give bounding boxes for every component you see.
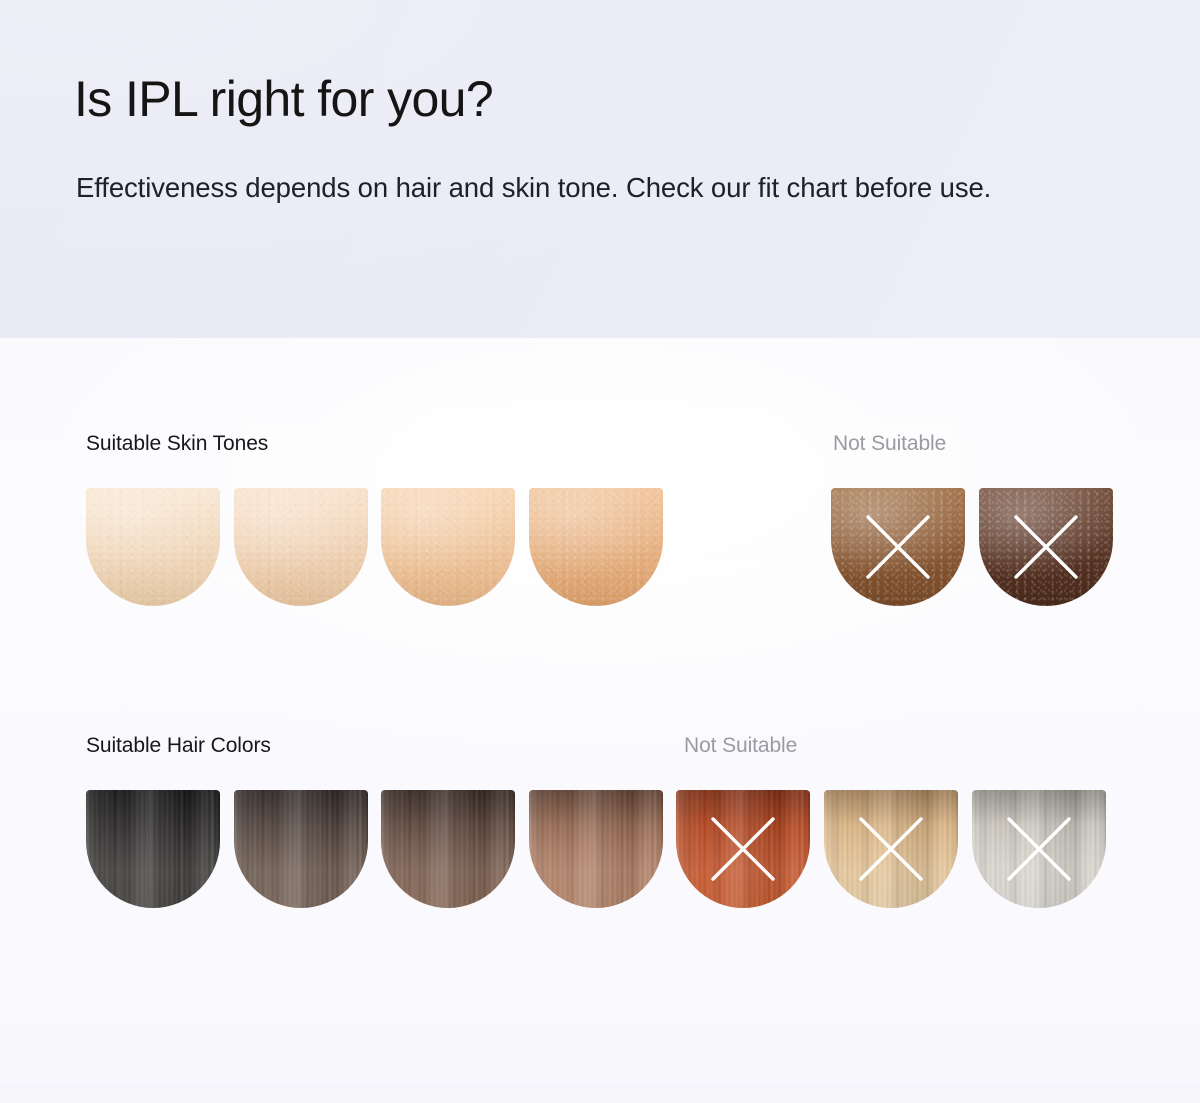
- hair-color-2[interactable]: [234, 790, 368, 908]
- skin-tone-5[interactable]: [831, 488, 965, 606]
- hair-color-4-sheen: [529, 790, 663, 908]
- skin-tone-4[interactable]: [529, 488, 663, 606]
- hair-swatch-row: [0, 790, 1200, 912]
- page-title: Is IPL right for you?: [74, 68, 493, 130]
- skin-tone-6[interactable]: [979, 488, 1113, 606]
- skin-tone-5-sheen: [831, 488, 965, 606]
- skin-tone-3[interactable]: [381, 488, 515, 606]
- hair-color-1[interactable]: [86, 790, 220, 908]
- skin-tone-4-sheen: [529, 488, 663, 606]
- hair-suitable-label: Suitable Hair Colors: [86, 732, 271, 759]
- header-band: Is IPL right for you? Effectiveness depe…: [0, 0, 1200, 338]
- hair-color-5[interactable]: [676, 790, 810, 908]
- hair-color-5-sheen: [676, 790, 810, 908]
- skin-tone-2[interactable]: [234, 488, 368, 606]
- hair-not-suitable-label: Not Suitable: [684, 732, 797, 759]
- hair-color-6-sheen: [824, 790, 958, 908]
- page-subtitle: Effectiveness depends on hair and skin t…: [76, 166, 1126, 209]
- skin-tone-1[interactable]: [86, 488, 220, 606]
- hair-color-7-sheen: [972, 790, 1106, 908]
- hair-color-4[interactable]: [529, 790, 663, 908]
- skin-tone-6-sheen: [979, 488, 1113, 606]
- hair-color-7[interactable]: [972, 790, 1106, 908]
- hair-color-1-sheen: [86, 790, 220, 908]
- skin-tone-section: Suitable Skin Tones Not Suitable: [0, 430, 1200, 620]
- hair-color-3[interactable]: [381, 790, 515, 908]
- skin-tone-1-sheen: [86, 488, 220, 606]
- hair-color-6[interactable]: [824, 790, 958, 908]
- skin-tone-2-sheen: [234, 488, 368, 606]
- footer-band: [0, 1083, 1200, 1103]
- skin-suitable-label: Suitable Skin Tones: [86, 430, 268, 457]
- skin-not-suitable-label: Not Suitable: [833, 430, 946, 457]
- hair-color-2-sheen: [234, 790, 368, 908]
- skin-swatch-row: [0, 488, 1200, 610]
- skin-tone-3-sheen: [381, 488, 515, 606]
- hair-color-section: Suitable Hair Colors Not Suitable: [0, 732, 1200, 922]
- hair-color-3-sheen: [381, 790, 515, 908]
